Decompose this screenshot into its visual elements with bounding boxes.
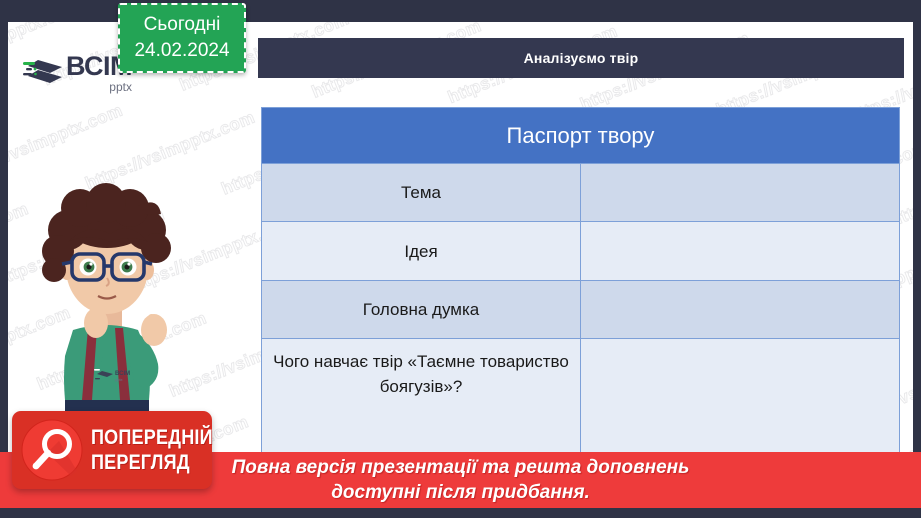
row-value-tema[interactable]: [581, 164, 900, 222]
table-row: Чого навчає твір «Таємне товариство бояг…: [262, 339, 900, 463]
preview-badge-text: ПОПЕРЕДНІЙ ПЕРЕГЛЯД: [91, 425, 213, 475]
today-label: Сьогодні: [144, 12, 221, 38]
row-value-ideya[interactable]: [581, 222, 900, 281]
preview-badge-line1: ПОПЕРЕДНІЙ: [91, 425, 213, 450]
row-label-holovna-dumka: Головна думка: [262, 281, 581, 339]
cartoon-boy-illustration: ВСІМ pptx: [18, 178, 203, 428]
today-date: 24.02.2024: [134, 38, 229, 64]
watermark-text: https://vsimpptx.com: [8, 101, 125, 186]
table-row: Ідея: [262, 222, 900, 281]
table-header-title: Паспорт твору: [262, 108, 900, 164]
svg-text:pptx: pptx: [115, 377, 123, 382]
preview-badge[interactable]: ПОПЕРЕДНІЙ ПЕРЕГЛЯД: [12, 411, 212, 489]
table-row: Тема: [262, 164, 900, 222]
preview-badge-line2: ПЕРЕГЛЯД: [91, 450, 213, 475]
row-value-chogo-navchae[interactable]: [581, 339, 900, 463]
row-value-holovna-dumka[interactable]: [581, 281, 900, 339]
magnifier-icon: [21, 419, 83, 481]
slide-title: Аналізуємо твір: [524, 50, 639, 66]
row-label-ideya: Ідея: [262, 222, 581, 281]
purchase-notice-line1: Повна версія презентації та решта доповн…: [232, 455, 690, 480]
slide-title-bar: Аналізуємо твір: [258, 38, 904, 78]
brand-suffix: pptx: [66, 81, 132, 93]
table-header-row: Паспорт твору: [262, 108, 900, 164]
table-row: Головна думка: [262, 281, 900, 339]
row-label-tema: Тема: [262, 164, 581, 222]
graduation-cap-icon: [22, 56, 64, 90]
presentation-slide: https://vsimpptx.com https://vsimpptx.co…: [0, 0, 921, 518]
today-date-badge: Сьогодні 24.02.2024: [118, 3, 246, 73]
passport-table: Паспорт твору Тема Ідея Головна думка Чо…: [261, 107, 900, 463]
bottom-frame-strip: [0, 508, 921, 518]
purchase-notice-line2: доступні після придбання.: [331, 480, 590, 505]
row-label-chogo-navchae: Чого навчає твір «Таємне товариство бояг…: [262, 339, 581, 463]
